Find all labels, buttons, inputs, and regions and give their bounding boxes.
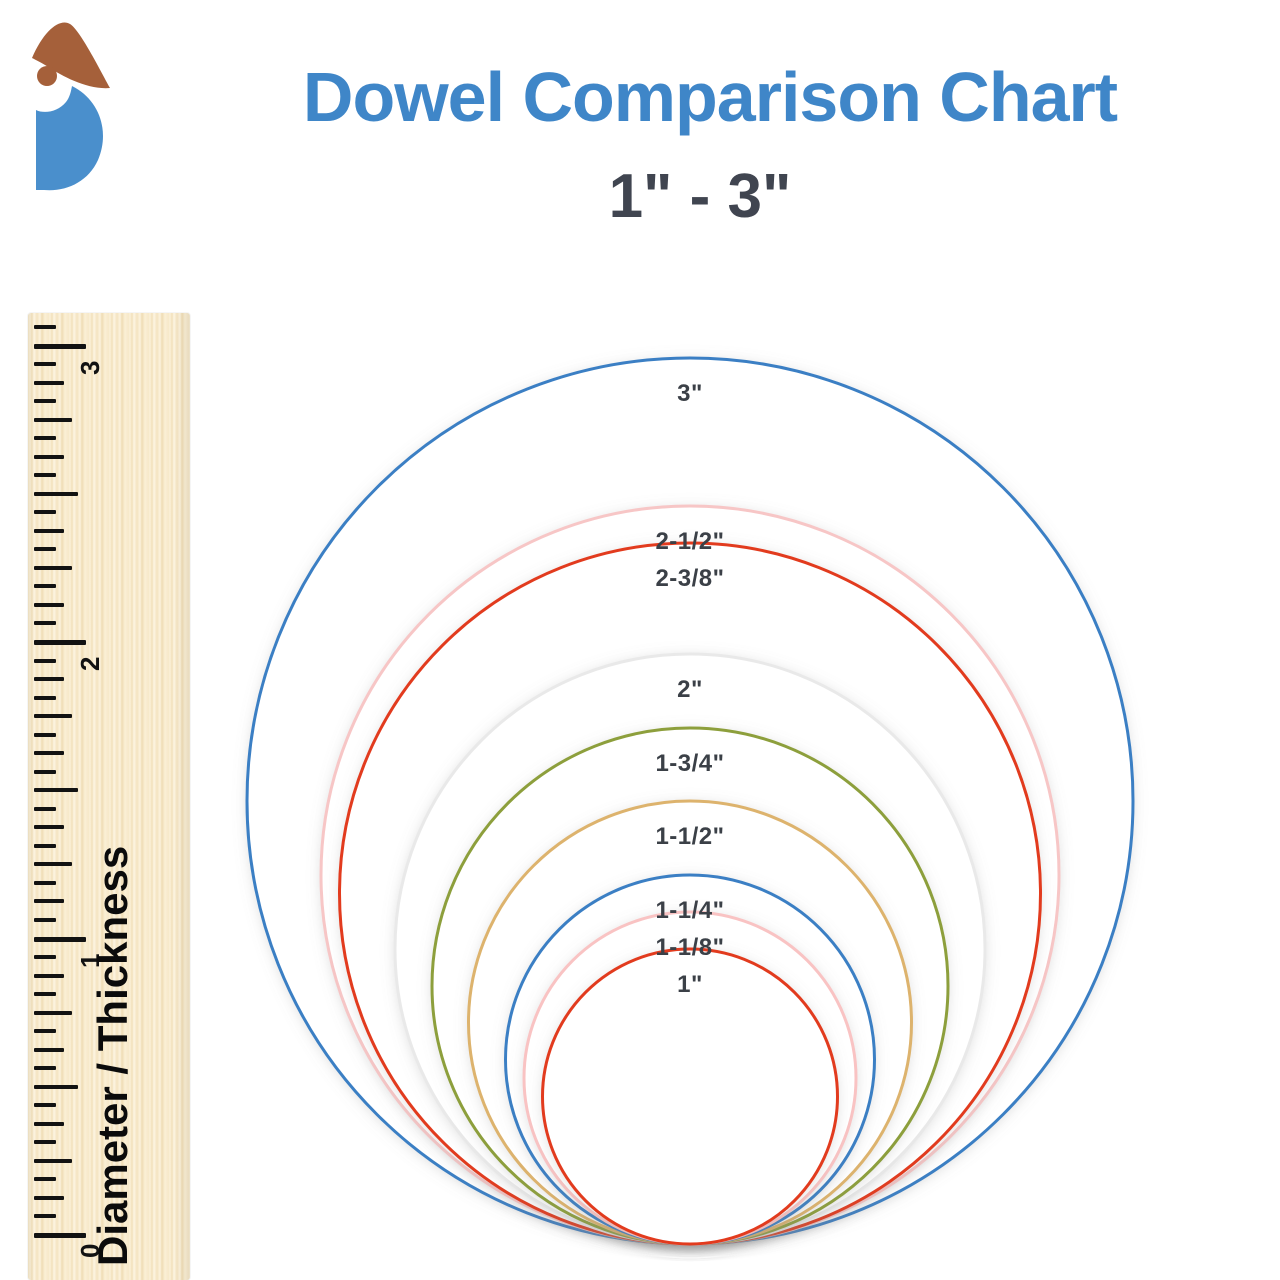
dowel-ring-label: 2-1/2" [655, 528, 724, 556]
dowel-ring-label: 2" [677, 676, 703, 704]
dowel-ring-label: 3" [677, 380, 703, 408]
dowel-ring-label: 1-1/2" [655, 823, 724, 851]
dowel-comparison-page: Dowel Comparison Chart 1" - 3" 0123 Diam… [0, 0, 1280, 1280]
dowel-rings-svg [0, 0, 1280, 1280]
dowel-ring-label: 1-1/4" [655, 897, 724, 925]
dowel-ring-label: 1-3/4" [655, 750, 724, 778]
dowel-ring-label: 2-3/8" [655, 565, 724, 593]
dowel-ring-label: 1-1/8" [655, 934, 724, 962]
circle-chart: 3"2-1/2"2-3/8"2"1-3/4"1-1/2"1-1/4"1-1/8"… [0, 0, 1280, 1280]
dowel-ring-label: 1" [677, 971, 703, 999]
